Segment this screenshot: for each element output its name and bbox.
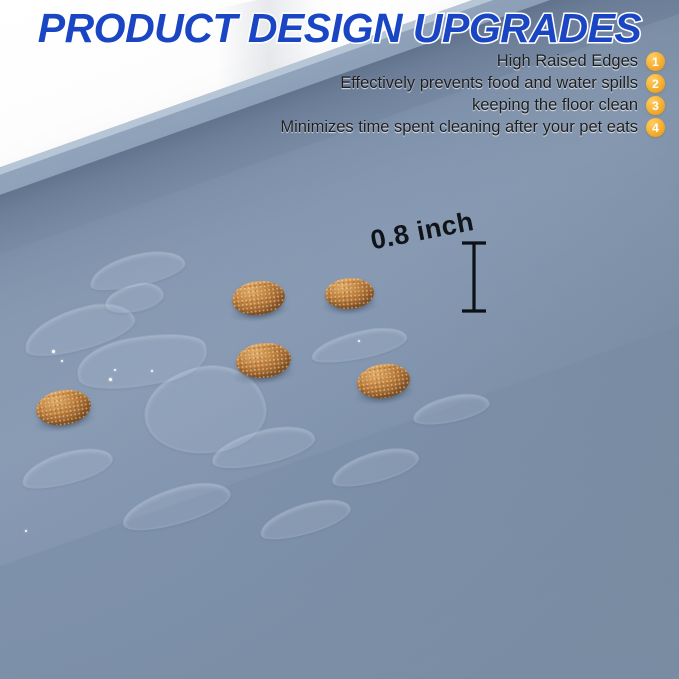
feature-item-3: keeping the floor clean3: [472, 96, 665, 115]
feature-item-4: Minimizes time spent cleaning after your…: [280, 118, 665, 137]
feature-number-badge: 4: [646, 118, 665, 137]
measurement-bracket-icon: [456, 240, 492, 314]
page-title: PRODUCT DESIGN UPGRADES: [0, 5, 679, 52]
feature-item-label: Minimizes time spent cleaning after your…: [280, 118, 638, 137]
feature-number-badge: 3: [646, 96, 665, 115]
product-marketing-image: 0.8 inch PRODUCT DESIGN UPGRADES High Ra…: [0, 0, 679, 679]
feature-item-label: Effectively prevents food and water spil…: [340, 74, 638, 93]
feature-number-badge: 1: [646, 52, 665, 71]
feature-item-label: High Raised Edges: [497, 52, 638, 71]
feature-item-2: Effectively prevents food and water spil…: [340, 74, 665, 93]
feature-list: High Raised Edges1Effectively prevents f…: [280, 52, 665, 137]
feature-item-1: High Raised Edges1: [497, 52, 665, 71]
feature-number-badge: 2: [646, 74, 665, 93]
feature-item-label: keeping the floor clean: [472, 96, 638, 115]
